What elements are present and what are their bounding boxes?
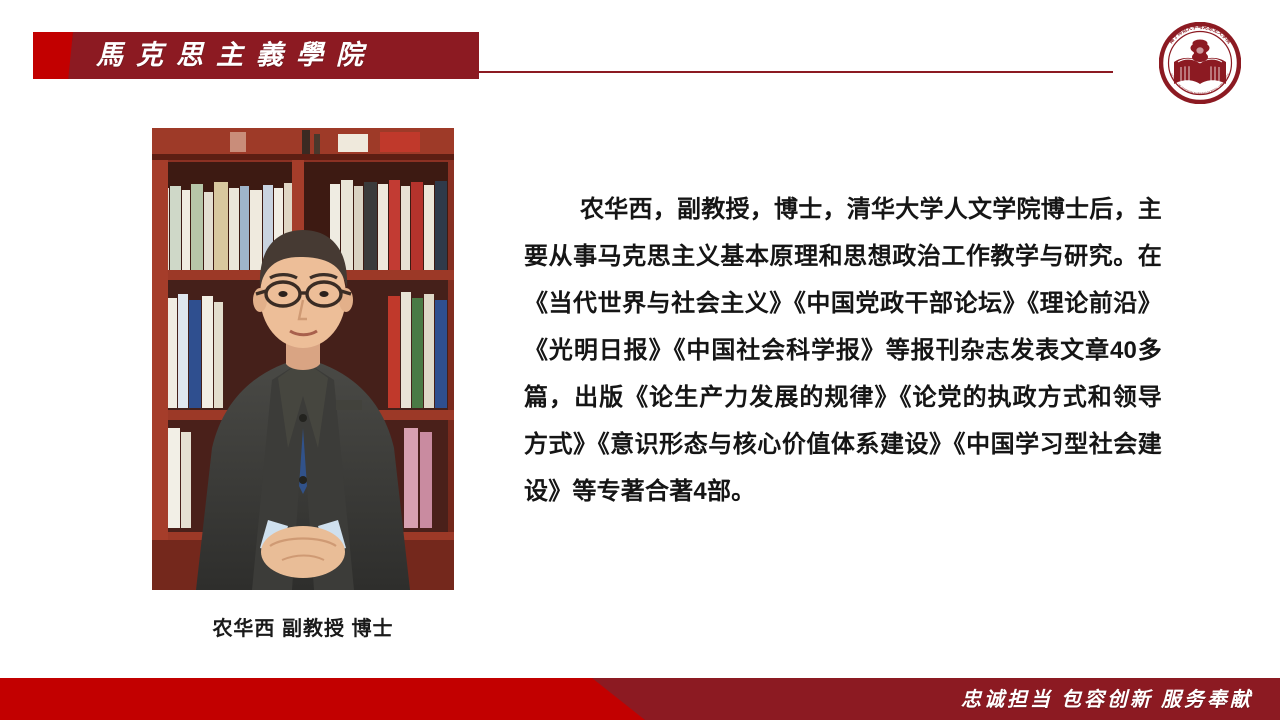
- biography-paragraph: 农华西，副教授，博士，清华大学人文学院博士后，主要从事马克思主义基本原理和思想政…: [524, 196, 1162, 505]
- biography-text: 农华西，副教授，博士，清华大学人文学院博士后，主要从事马克思主义基本原理和思想政…: [524, 186, 1162, 515]
- university-seal-logo: 南宁师范大学马克思主义学院 SCHOOL OF MARXISM NANNING …: [1159, 22, 1241, 104]
- slide-header: 馬克思主義學院 南宁师范大学马克思主义学院 SCHOOL OF MARXISM …: [0, 0, 1280, 120]
- profile-caption: 农华西 副教授 博士: [152, 612, 454, 641]
- header-accent-parallelogram: [33, 32, 73, 79]
- footer-slogan: 忠诚担当 包容创新 服务奉献: [961, 678, 1253, 720]
- header-divider-line: [479, 71, 1113, 73]
- slide-footer: 忠诚担当 包容创新 服务奉献: [0, 670, 1280, 720]
- profile-photo: [152, 128, 454, 590]
- page-title: 馬克思主義學院: [96, 32, 376, 79]
- slide-root: 馬克思主義學院 南宁师范大学马克思主义学院 SCHOOL OF MARXISM …: [0, 0, 1280, 720]
- footer-bright-band: [0, 678, 645, 720]
